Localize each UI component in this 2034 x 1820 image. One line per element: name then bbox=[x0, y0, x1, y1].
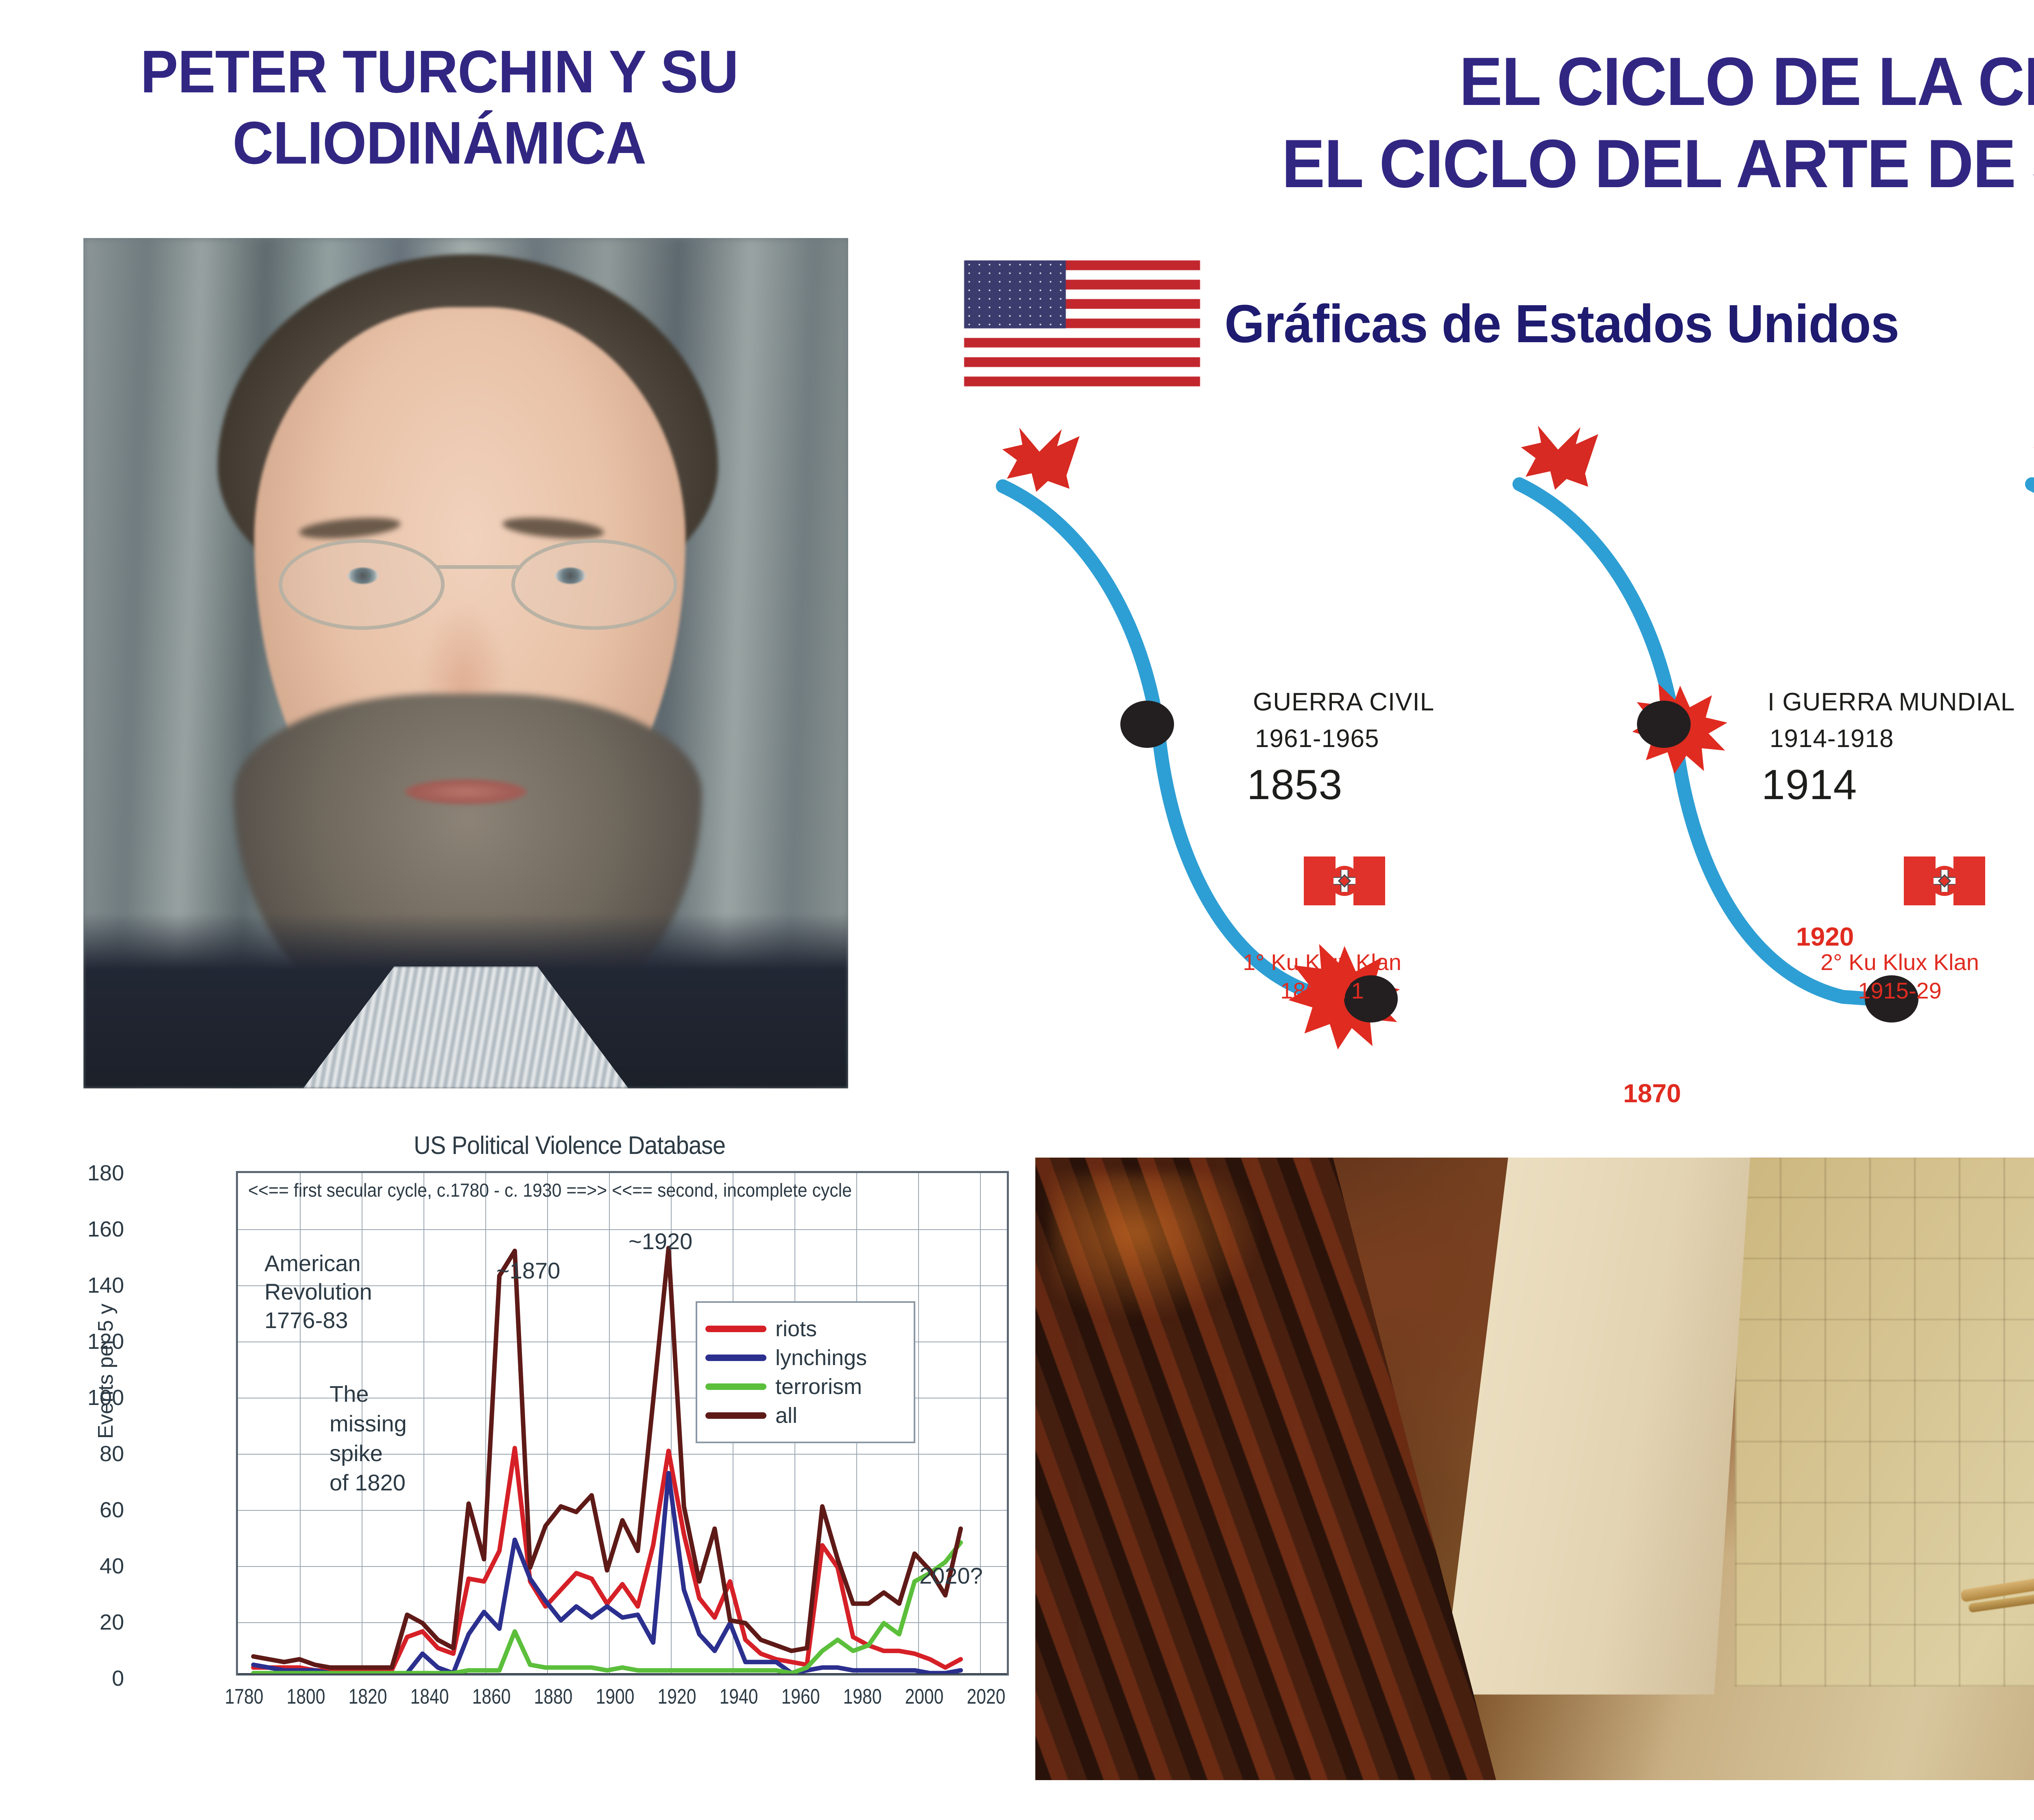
legend-label-all: all bbox=[775, 1403, 797, 1428]
kkk-cross-diamond bbox=[1938, 874, 1951, 888]
y-tick: 60 bbox=[2, 1497, 124, 1523]
x-tick: 2020 bbox=[949, 1685, 1023, 1709]
y-tick: 20 bbox=[2, 1610, 124, 1635]
legend-label-lynchings: lynchings bbox=[775, 1345, 867, 1370]
legend-item: lynchings bbox=[705, 1345, 906, 1370]
peter-turchin-photo bbox=[83, 238, 848, 1088]
left-title: PETER TURCHIN Y SU CLIODINÁMICA bbox=[65, 37, 814, 179]
timeline-event-years-1: 1961-1965 bbox=[1255, 724, 1379, 753]
y-tick: 180 bbox=[2, 1160, 124, 1186]
legend-swatch-terrorism bbox=[705, 1383, 766, 1390]
y-tick: 0 bbox=[2, 1666, 124, 1691]
painting-curtain-highlight bbox=[1052, 1174, 1263, 1320]
kkk-flag-icon bbox=[1904, 856, 1985, 905]
glasses-lens-right bbox=[511, 539, 677, 630]
down-arrow-icon bbox=[1002, 428, 1080, 492]
timeline-klan-years-2: 1915-29 bbox=[1858, 978, 1942, 1003]
chart-cycle-annotation: <<== first secular cycle, c.1780 - c. 19… bbox=[248, 1179, 948, 1201]
glasses-lens-left bbox=[279, 539, 445, 630]
chart-annotation-american-revolution: AmericanRevolution1776-83 bbox=[264, 1249, 372, 1335]
timeline-klan-label-2: 2° Ku Klux Klan bbox=[1820, 949, 1979, 975]
page-title: EL CICLO DE LA CLIODINÁMICA SOBRE EL CIC… bbox=[1051, 41, 2034, 205]
timeline-event-name-2: I GUERRA MUNDIAL bbox=[1768, 688, 2015, 717]
kkk-flag-emblem bbox=[1929, 866, 1960, 896]
kkk-flag-icon bbox=[1304, 856, 1385, 905]
photo-mouth bbox=[405, 779, 527, 804]
timeline-event-years-2: 1914-1918 bbox=[1770, 724, 1894, 753]
legend-item: terrorism bbox=[705, 1374, 906, 1399]
down-arrow-icon bbox=[1521, 426, 1598, 490]
timeline-node-dot bbox=[1637, 701, 1691, 748]
chart-annotation-missing-spike: Themissingspikeof 1820 bbox=[330, 1379, 407, 1498]
timeline-burst-label-2: 1920 bbox=[1796, 922, 1854, 952]
main-title-line1: EL CICLO DE LA CLIODINÁMICA SOBRE bbox=[1051, 41, 2034, 123]
timeline-big-year-2: 1914 bbox=[1761, 761, 1857, 809]
kkk-flag-emblem bbox=[1329, 866, 1360, 896]
glasses-bridge bbox=[436, 565, 522, 569]
timeline-node-dot bbox=[1120, 701, 1174, 748]
chart-legend: riots lynchings terrorism all bbox=[696, 1301, 915, 1443]
chart-title: US Political Violence Database bbox=[112, 1131, 1028, 1160]
chart-annotation-2020: 2020? bbox=[919, 1562, 983, 1589]
legend-item: riots bbox=[705, 1316, 906, 1342]
legend-swatch-riots bbox=[705, 1326, 766, 1332]
left-title-line2: CLIODINÁMICA bbox=[65, 108, 814, 179]
y-tick: 120 bbox=[2, 1329, 124, 1354]
flag-canton bbox=[964, 260, 1066, 328]
chart-annotation-1870: ~1870 bbox=[496, 1257, 560, 1284]
us-political-violence-chart: US Political Violence Database Events pe… bbox=[77, 1131, 1062, 1819]
chart-annotation-1920: ~1920 bbox=[629, 1228, 692, 1255]
legend-item: all bbox=[705, 1403, 906, 1428]
timeline-graphic bbox=[915, 407, 2034, 1172]
kkk-cross-diamond bbox=[1338, 874, 1351, 888]
timeline-curve-3 bbox=[2032, 484, 2034, 1001]
chart-series-lynchings bbox=[253, 1473, 961, 1673]
legend-swatch-lynchings bbox=[705, 1355, 766, 1361]
timeline-klan-years-1: 1865-71 bbox=[1280, 978, 1364, 1003]
y-tick: 40 bbox=[2, 1553, 124, 1579]
legend-label-riots: riots bbox=[775, 1316, 817, 1342]
timeline-klan-label-1: 1° Ku Klux Klan bbox=[1243, 949, 1401, 975]
subtitle-label: Gráficas de Estados Unidos bbox=[1224, 293, 1899, 354]
y-tick: 140 bbox=[2, 1273, 124, 1298]
y-tick: 100 bbox=[2, 1385, 124, 1410]
flag-stars bbox=[964, 260, 1066, 328]
timeline-event-name-1: GUERRA CIVIL bbox=[1253, 688, 1434, 717]
timeline-burst-label-1: 1870 bbox=[1623, 1078, 1681, 1108]
y-tick: 80 bbox=[2, 1441, 124, 1466]
vermeer-art-of-painting-image bbox=[1035, 1158, 2034, 1780]
left-title-line1: PETER TURCHIN Y SU bbox=[65, 37, 814, 108]
legend-swatch-all bbox=[705, 1412, 766, 1419]
timeline-big-year-1: 1853 bbox=[1247, 761, 1342, 809]
subtitle-row: Gráficas de Estados Unidos bbox=[964, 260, 1927, 387]
us-flag-icon bbox=[964, 260, 1200, 387]
main-title-line2: EL CICLO DEL ARTE DE JOB FLORES FERNÁNDE… bbox=[1051, 123, 2034, 205]
y-tick: 160 bbox=[2, 1217, 124, 1242]
legend-label-terrorism: terrorism bbox=[775, 1374, 862, 1399]
